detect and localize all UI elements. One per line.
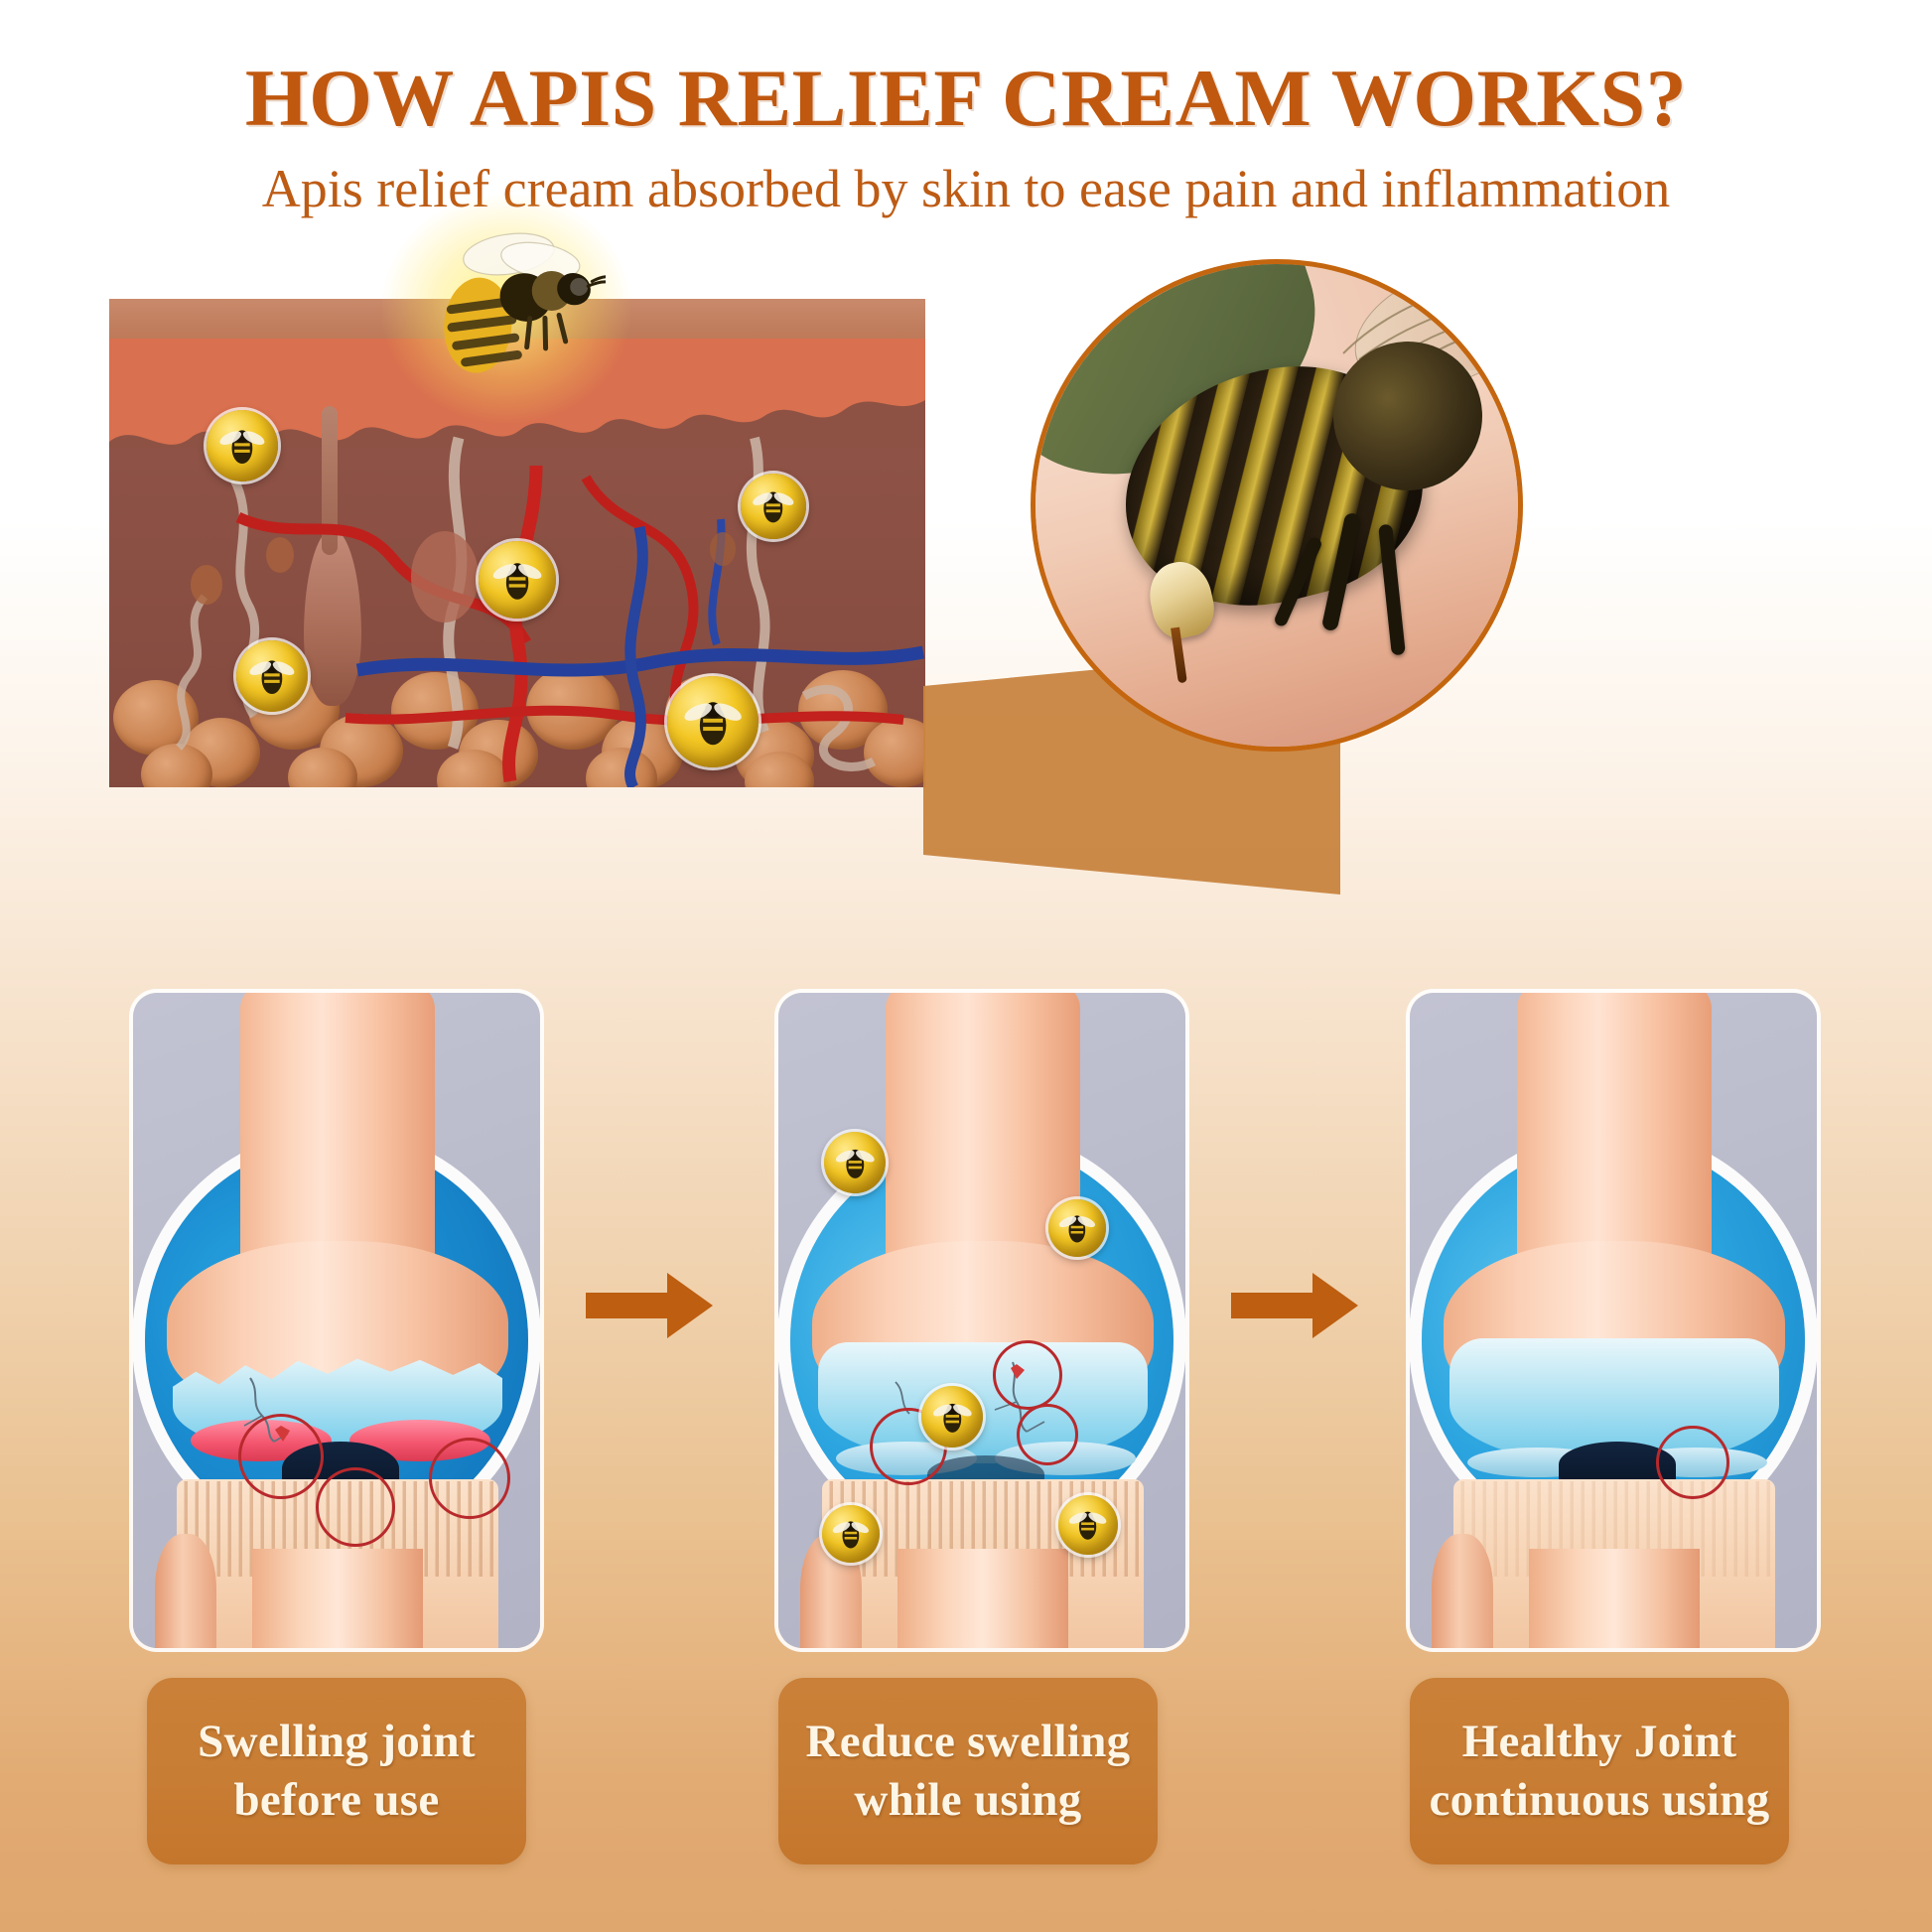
page-title: HOW APIS RELIEF CREAM WORKS? bbox=[0, 58, 1932, 139]
problem-highlight-circle bbox=[238, 1414, 324, 1499]
problem-highlight-circle bbox=[1656, 1426, 1729, 1499]
tibia-shaft bbox=[897, 1549, 1068, 1648]
problem-highlight-circle bbox=[993, 1340, 1062, 1410]
top-illustration-row bbox=[0, 249, 1932, 805]
venom-bubble-icon bbox=[822, 1505, 880, 1563]
header: HOW APIS RELIEF CREAM WORKS? Apis relief… bbox=[0, 0, 1932, 217]
problem-highlight-circle bbox=[316, 1467, 395, 1547]
venom-bubble-icon bbox=[1048, 1199, 1106, 1257]
venom-bubble-icon bbox=[741, 474, 806, 539]
caption-text: Swelling joint before use bbox=[198, 1713, 476, 1830]
stage-captions-row: Swelling joint before use Reduce swellin… bbox=[0, 1678, 1932, 1876]
venom-bubble-icon bbox=[824, 1132, 886, 1193]
caption-text: Healthy Joint continuous using bbox=[1429, 1713, 1769, 1830]
stage-3 bbox=[1410, 993, 1817, 1648]
treatment-stages-row bbox=[0, 993, 1932, 1688]
joint-illustration-healing bbox=[778, 993, 1185, 1648]
caption-text: Reduce swelling while using bbox=[806, 1713, 1131, 1830]
fibula-bone bbox=[155, 1534, 216, 1648]
progress-arrow-1-icon bbox=[586, 1271, 713, 1340]
page-subtitle: Apis relief cream absorbed by skin to ea… bbox=[0, 161, 1932, 217]
tibia-shaft bbox=[1529, 1549, 1700, 1648]
tibia-shaft bbox=[252, 1549, 423, 1648]
venom-bubble-icon bbox=[479, 541, 556, 619]
venom-bubble-icon bbox=[207, 410, 278, 482]
venom-bubble-icon bbox=[921, 1386, 983, 1448]
bee-sting-photo bbox=[1031, 259, 1523, 752]
venom-bubble-icon bbox=[236, 640, 308, 712]
honeybee-illustration bbox=[417, 219, 606, 398]
problem-highlight-circle bbox=[429, 1438, 510, 1519]
progress-arrow-2-icon bbox=[1231, 1271, 1358, 1340]
joint-illustration-swollen bbox=[133, 993, 540, 1648]
venom-bubble-icon bbox=[667, 676, 759, 767]
stage-2 bbox=[778, 993, 1185, 1648]
stage-1 bbox=[133, 993, 540, 1648]
caption-box-stage-2: Reduce swelling while using bbox=[778, 1678, 1158, 1864]
fibula-bone bbox=[1432, 1534, 1493, 1648]
caption-box-stage-3: Healthy Joint continuous using bbox=[1410, 1678, 1789, 1864]
venom-bubble-icon bbox=[1058, 1495, 1118, 1555]
problem-highlight-circle bbox=[1017, 1404, 1078, 1465]
joint-illustration-healthy bbox=[1410, 993, 1817, 1648]
caption-box-stage-1: Swelling joint before use bbox=[147, 1678, 526, 1864]
